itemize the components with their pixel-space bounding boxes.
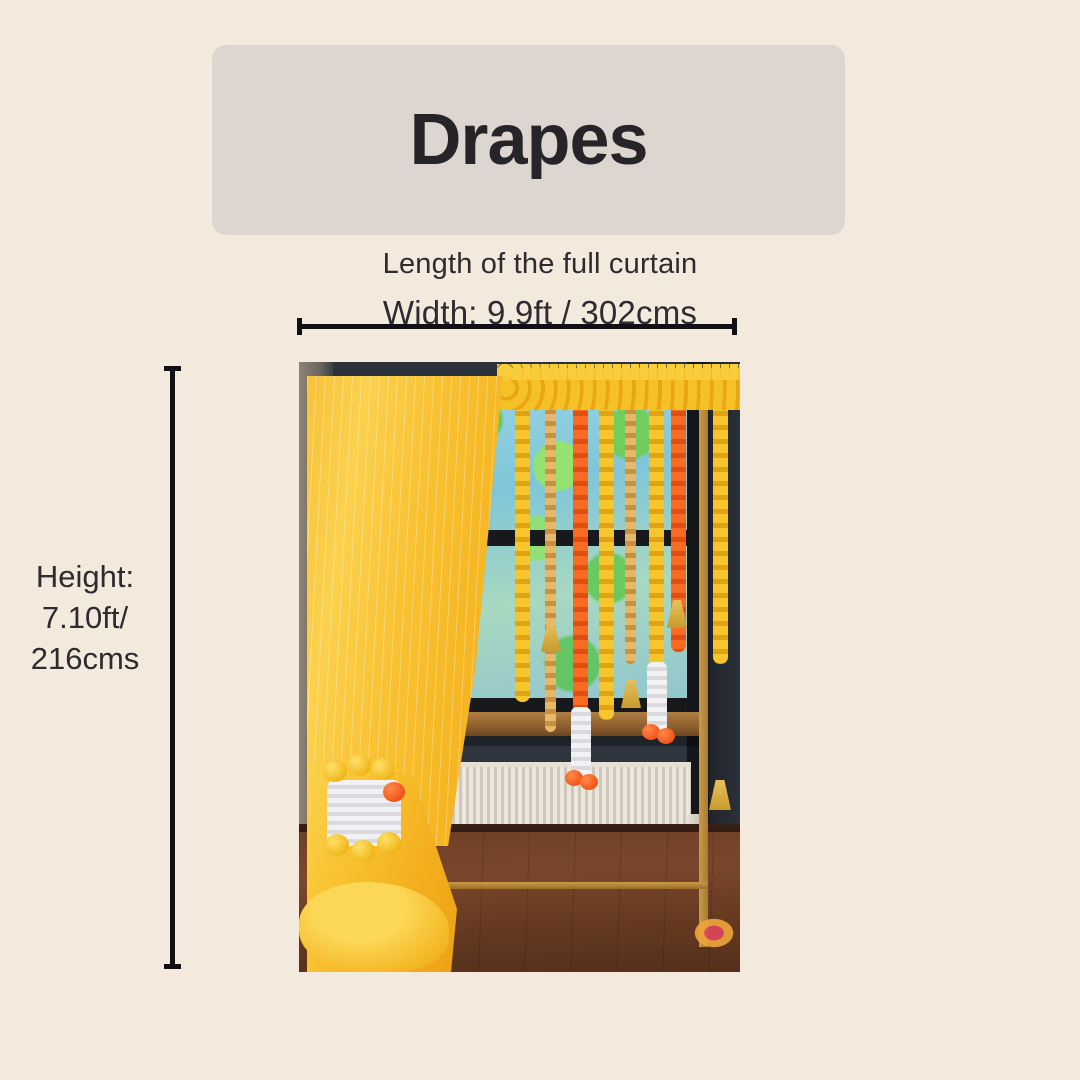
curtain-pompom-5	[325, 834, 349, 856]
pompom-orange-4	[657, 728, 675, 744]
curtain-pompom-6	[351, 840, 375, 862]
title-card: Drapes	[212, 45, 845, 235]
curtain-pompom-2	[347, 754, 371, 776]
poster-canvas: Drapes Length of the full curtain Width:…	[0, 0, 1080, 1080]
pompom-orange-2	[580, 774, 598, 790]
width-dimension-bar	[297, 324, 737, 329]
width-dimension-line	[297, 318, 737, 334]
backdrop-stand-base-rail	[419, 882, 707, 889]
marigold-strand-1	[515, 402, 530, 702]
backdrop-stand-post	[699, 372, 708, 947]
marigold-strand-3	[599, 402, 614, 720]
page-title: Drapes	[409, 104, 647, 176]
height-label-line-3: 216cms	[10, 638, 160, 679]
height-label-line-2: 7.10ft/	[10, 597, 160, 638]
marigold-valance-top-row	[497, 364, 740, 380]
curtain-pompom-7	[377, 832, 401, 854]
height-dimension-bar	[170, 366, 175, 969]
curtain-pompom-3	[371, 758, 395, 780]
tassel-white-1	[571, 707, 591, 777]
tassel-white-2	[647, 662, 667, 732]
height-dimension-line	[164, 366, 181, 969]
bead-strand-1	[545, 402, 556, 732]
curtain-pompom-1	[323, 760, 347, 782]
height-dimension-cap-bottom	[164, 964, 181, 969]
width-dimension-cap-right	[732, 318, 737, 335]
marigold-strand-6	[713, 402, 728, 664]
label-height-measurement: Height: 7.10ft/ 216cms	[10, 556, 160, 679]
product-photo	[299, 362, 740, 972]
marigold-strand-4	[649, 402, 664, 702]
bead-strand-2	[625, 402, 636, 664]
rangoli-decoration	[691, 916, 737, 950]
height-label-line-1: Height:	[10, 556, 160, 597]
curtain-pompom-4	[383, 782, 405, 802]
caption-length-of-curtain: Length of the full curtain	[0, 248, 1080, 281]
marigold-strand-2	[573, 402, 588, 747]
